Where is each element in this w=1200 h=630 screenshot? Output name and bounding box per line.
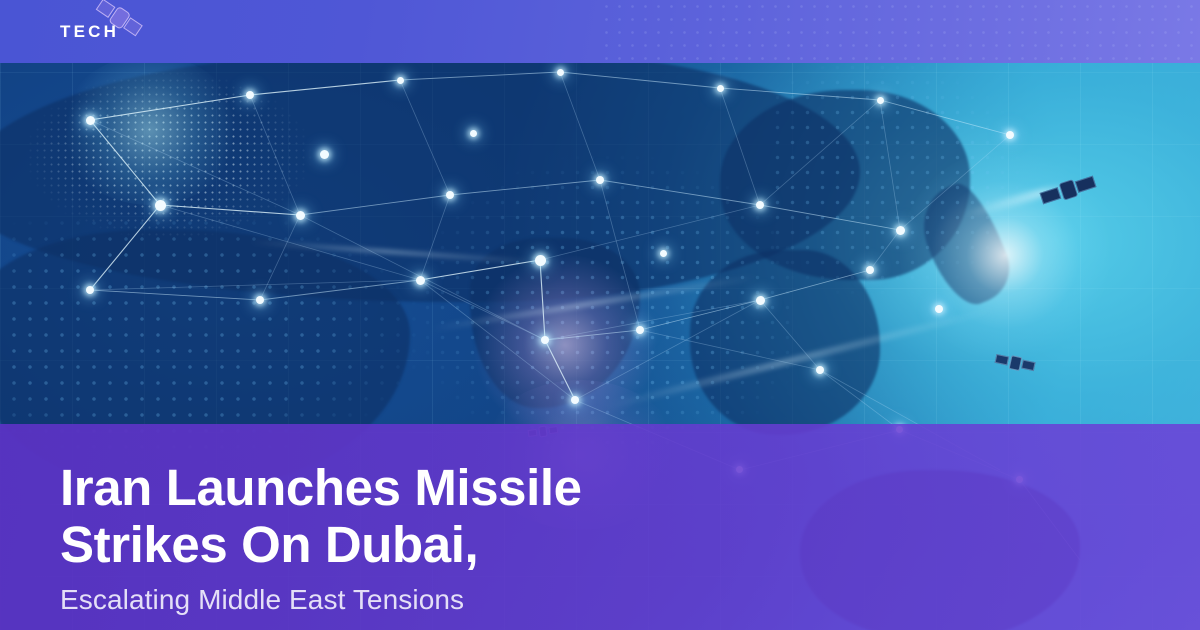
category-band: TECH: [0, 0, 1200, 63]
network-node: [86, 286, 94, 294]
satellite-panel-left: [1040, 187, 1062, 204]
page-title: Iran Launches Missile Strikes On Dubai,: [60, 459, 820, 573]
satellite-body: [1009, 355, 1023, 371]
news-card: TECH Iran Launches Missile Strikes On Du…: [0, 0, 1200, 630]
network-node: [557, 69, 564, 76]
network-node: [717, 85, 724, 92]
network-node: [596, 176, 604, 184]
band-dot-texture: [600, 0, 1200, 63]
network-node: [756, 201, 764, 209]
network-node: [636, 326, 644, 334]
subheadline: Escalating Middle East Tensions: [60, 583, 464, 617]
network-node: [896, 226, 905, 235]
network-node: [86, 116, 95, 125]
category-label[interactable]: TECH: [60, 21, 119, 42]
network-node: [935, 305, 943, 313]
network-node: [416, 276, 425, 285]
satellite-panel-right: [1021, 360, 1036, 372]
network-node: [541, 336, 549, 344]
network-node: [256, 296, 264, 304]
network-node: [470, 130, 477, 137]
network-node: [446, 191, 454, 199]
network-node: [397, 77, 404, 84]
headline-line-2: Strikes On Dubai,: [60, 516, 820, 573]
satellite-panel-right: [1075, 176, 1097, 193]
network-node: [816, 366, 824, 374]
network-node: [535, 255, 546, 266]
network-node: [155, 200, 166, 211]
network-node: [866, 266, 874, 274]
network-node: [571, 396, 579, 404]
network-node: [320, 150, 329, 159]
network-node: [660, 250, 667, 257]
satellite-panel-left: [995, 354, 1010, 366]
headline-line-1: Iran Launches Missile: [60, 459, 820, 516]
network-node: [1006, 131, 1014, 139]
network-node: [756, 296, 765, 305]
network-node: [296, 211, 305, 220]
network-node: [246, 91, 254, 99]
network-node: [877, 97, 884, 104]
